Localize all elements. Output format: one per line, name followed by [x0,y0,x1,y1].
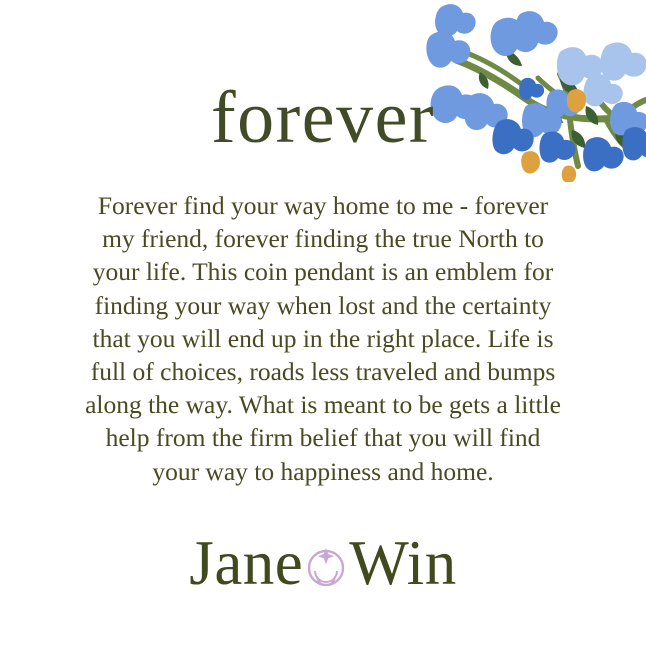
brand-logo: Jane Win [0,528,646,598]
product-description: Forever find your way home to me - forev… [50,189,596,488]
description-line: Forever find your way home to me - forev… [50,189,596,222]
description-line: that you will end up in the right place.… [50,322,596,355]
description-line: full of choices, roads less traveled and… [50,355,596,388]
crescent-moon-sparkle-emblem-icon [306,544,346,588]
description-line: my friend, forever finding the true Nort… [50,222,596,255]
description-line: your way to happiness and home. [50,455,596,488]
product-story-card: forever Forever find your way home to me… [0,0,646,648]
description-line: along the way. What is meant to be gets … [50,388,596,421]
brand-name-first-word: Jane [189,528,303,598]
brand-name-second-word: Win [349,528,456,598]
description-line: help from the firm belief that you will … [50,421,596,454]
page-title: forever [0,78,646,158]
description-line: your life. This coin pendant is an emble… [50,255,596,288]
description-line: finding your way when lost and the certa… [50,289,596,322]
